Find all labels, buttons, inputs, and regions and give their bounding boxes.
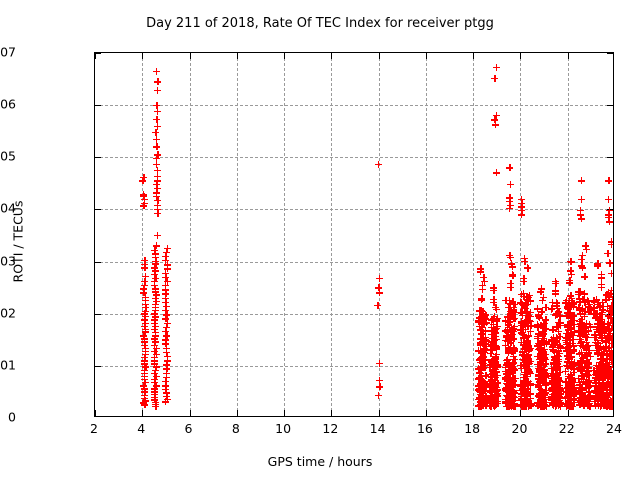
data-point (599, 386, 606, 393)
data-point (502, 386, 509, 393)
data-point (580, 322, 587, 329)
data-point (553, 337, 560, 344)
data-point (510, 315, 517, 322)
data-point (503, 384, 510, 391)
data-point (490, 338, 497, 345)
data-point (490, 284, 497, 291)
data-point (552, 401, 559, 408)
data-point (569, 376, 576, 383)
data-point (606, 352, 613, 359)
data-point (477, 348, 484, 355)
data-point (610, 367, 614, 374)
y-tick-mark (607, 262, 613, 263)
data-point (542, 402, 549, 409)
data-point (509, 391, 516, 398)
data-point (507, 382, 514, 389)
data-point (606, 351, 613, 358)
data-point (479, 319, 486, 326)
data-point (476, 382, 483, 389)
data-point (494, 386, 501, 393)
data-point (487, 396, 494, 403)
data-point (577, 320, 584, 327)
data-point (478, 383, 485, 390)
gridline-horizontal (95, 209, 613, 210)
data-point (596, 316, 603, 323)
data-point (152, 338, 159, 345)
data-point (538, 403, 545, 410)
data-point (576, 382, 583, 389)
data-point (376, 383, 383, 390)
data-point (606, 400, 613, 407)
data-point (521, 371, 528, 378)
data-point (606, 403, 613, 410)
data-point (611, 395, 614, 402)
data-point (151, 316, 158, 323)
data-point (152, 285, 159, 292)
data-point (506, 388, 513, 395)
data-point (582, 242, 589, 249)
chart-root: Day 211 of 2018, Rate Of TEC Index for r… (0, 0, 640, 480)
data-point (540, 330, 547, 337)
chart-title: Day 211 of 2018, Rate Of TEC Index for r… (0, 16, 640, 31)
data-point (607, 350, 614, 357)
data-point (575, 304, 582, 311)
data-point (565, 398, 572, 405)
data-point (549, 400, 556, 407)
data-point (476, 318, 483, 325)
data-point (555, 388, 562, 395)
x-tick-mark (379, 410, 380, 416)
data-point (607, 315, 614, 322)
data-point (553, 323, 560, 330)
data-point (541, 371, 548, 378)
data-point (597, 302, 604, 309)
data-point (508, 383, 515, 390)
data-point (482, 402, 489, 409)
data-point (523, 392, 530, 399)
data-point (586, 395, 593, 402)
data-point (566, 354, 573, 361)
data-point (585, 389, 592, 396)
data-point (578, 372, 585, 379)
data-point (610, 304, 614, 311)
data-point (598, 284, 605, 291)
data-point (506, 402, 513, 409)
data-point (503, 388, 510, 395)
data-point (489, 338, 496, 345)
data-point (592, 374, 599, 381)
data-point (153, 298, 160, 305)
data-point (554, 371, 561, 378)
data-point (586, 403, 593, 410)
data-point (486, 387, 493, 394)
data-point (506, 205, 513, 212)
data-point (152, 295, 159, 302)
data-point (527, 391, 534, 398)
data-point (576, 401, 583, 408)
data-point (549, 396, 556, 403)
data-point (611, 403, 614, 410)
data-point (509, 367, 516, 374)
data-point (535, 346, 542, 353)
y-tick-label: 0.01 (0, 357, 16, 372)
data-point (569, 317, 576, 324)
data-point (596, 370, 603, 377)
data-point (162, 295, 169, 302)
data-point (505, 304, 512, 311)
data-point (539, 324, 546, 331)
data-point (591, 387, 598, 394)
data-point (597, 382, 604, 389)
x-tick-label: 6 (185, 421, 193, 436)
data-point (482, 315, 489, 322)
data-point (582, 379, 589, 386)
data-point (539, 397, 546, 404)
data-point (609, 378, 614, 385)
data-point (492, 304, 499, 311)
data-point (491, 389, 498, 396)
data-point (509, 380, 516, 387)
data-point (598, 316, 605, 323)
x-tick-mark (284, 410, 285, 416)
x-tick-label: 20 (512, 421, 528, 436)
data-point (609, 390, 614, 397)
data-point (583, 246, 590, 253)
data-point (556, 393, 563, 400)
data-point (540, 368, 547, 375)
data-point (491, 369, 498, 376)
data-point (553, 334, 560, 341)
data-point (479, 384, 486, 391)
data-point (577, 394, 584, 401)
data-point (522, 343, 529, 350)
data-point (526, 401, 533, 408)
data-point (475, 402, 482, 409)
data-point (605, 332, 612, 339)
data-point (582, 344, 589, 351)
data-point (478, 354, 485, 361)
data-point (593, 347, 600, 354)
data-point (523, 355, 530, 362)
data-point (476, 395, 483, 402)
data-point (594, 349, 601, 356)
data-point (152, 267, 159, 274)
data-point (568, 372, 575, 379)
data-point (581, 299, 588, 306)
data-point (540, 394, 547, 401)
data-point (581, 273, 588, 280)
data-point (599, 389, 606, 396)
data-point (552, 339, 559, 346)
data-point (479, 331, 486, 338)
data-point (603, 292, 610, 299)
data-point (555, 392, 562, 399)
data-point (594, 386, 601, 393)
data-point (555, 358, 562, 365)
data-point (549, 346, 556, 353)
data-point (569, 332, 576, 339)
data-point (487, 381, 494, 388)
data-point (489, 347, 496, 354)
data-point (598, 274, 605, 281)
data-point (494, 361, 501, 368)
data-point (152, 254, 159, 261)
data-point (163, 303, 170, 310)
data-point (163, 249, 170, 256)
data-point (503, 357, 510, 364)
data-point (479, 396, 486, 403)
data-point (577, 333, 584, 340)
data-point (490, 381, 497, 388)
x-tick-mark (520, 410, 521, 416)
data-point (581, 290, 588, 297)
data-point (603, 399, 610, 406)
data-point (480, 393, 487, 400)
data-point (153, 345, 160, 352)
data-point (586, 382, 593, 389)
data-point (522, 389, 529, 396)
data-point (557, 343, 564, 350)
data-point (575, 397, 582, 404)
data-point (580, 378, 587, 385)
data-point (518, 383, 525, 390)
data-point (600, 374, 607, 381)
data-point (610, 347, 615, 354)
data-point (580, 354, 587, 361)
data-point (541, 401, 548, 408)
data-point (538, 347, 545, 354)
data-point (549, 343, 556, 350)
data-point (605, 335, 612, 342)
data-point (493, 64, 500, 71)
data-point (482, 399, 489, 406)
data-point (503, 370, 510, 377)
data-point (579, 252, 586, 259)
data-point (521, 345, 528, 352)
data-point (492, 330, 499, 337)
data-point (477, 336, 484, 343)
data-point (477, 401, 484, 408)
data-point (597, 355, 604, 362)
data-point (594, 396, 601, 403)
data-point (552, 290, 559, 297)
data-point (509, 375, 516, 382)
data-point (525, 357, 532, 364)
data-point (599, 390, 606, 397)
data-point (577, 357, 584, 364)
data-point (578, 316, 585, 323)
data-point (508, 392, 515, 399)
data-point (489, 342, 496, 349)
data-point (482, 315, 489, 322)
data-point (563, 339, 570, 346)
data-point (571, 379, 578, 386)
data-point (605, 177, 612, 184)
data-point (608, 287, 614, 294)
data-point (476, 394, 483, 401)
data-point (581, 273, 588, 280)
data-point (570, 369, 577, 376)
data-point (534, 322, 541, 329)
data-point (488, 376, 495, 383)
data-point (599, 383, 606, 390)
data-point (602, 327, 609, 334)
data-point (552, 287, 559, 294)
data-point (151, 376, 158, 383)
data-point (576, 350, 583, 357)
data-point (509, 263, 516, 270)
data-point (575, 291, 582, 298)
data-point (570, 392, 577, 399)
data-point (597, 384, 604, 391)
data-point (591, 395, 598, 402)
data-point (523, 402, 530, 409)
data-point (556, 369, 563, 376)
data-point (541, 379, 548, 386)
data-point (523, 337, 530, 344)
data-point (542, 372, 549, 379)
data-point (541, 351, 548, 358)
data-point (600, 303, 607, 310)
data-point (504, 333, 511, 340)
data-point (576, 323, 583, 330)
data-point (523, 396, 530, 403)
y-tick-mark (95, 366, 101, 367)
data-point (608, 270, 614, 277)
data-point (151, 264, 158, 271)
data-point (482, 311, 489, 318)
data-point (548, 306, 555, 313)
data-point (611, 358, 614, 365)
data-point (600, 402, 607, 409)
data-point (490, 368, 497, 375)
data-point (536, 379, 543, 386)
data-point (592, 379, 599, 386)
data-point (585, 379, 592, 386)
data-point (527, 328, 534, 335)
data-point (490, 402, 497, 409)
data-point (140, 332, 147, 339)
data-point (556, 384, 563, 391)
data-point (536, 367, 543, 374)
data-point (599, 379, 606, 386)
data-point (520, 377, 527, 384)
data-point (597, 373, 604, 380)
data-point (552, 402, 559, 409)
data-point (506, 364, 513, 371)
data-point (487, 361, 494, 368)
data-point (585, 342, 592, 349)
data-point (162, 257, 169, 264)
data-point (610, 378, 614, 385)
y-tick-mark (95, 314, 101, 315)
data-point (512, 381, 519, 388)
data-point (493, 325, 500, 332)
data-point (487, 346, 494, 353)
data-point (606, 400, 613, 407)
data-point (507, 181, 514, 188)
data-point (596, 332, 603, 339)
data-point (518, 322, 525, 329)
data-point (539, 347, 546, 354)
data-point (557, 399, 564, 406)
data-point (493, 316, 500, 323)
data-point (511, 402, 518, 409)
data-point (550, 347, 557, 354)
data-point (584, 400, 591, 407)
data-point (551, 353, 558, 360)
data-point (577, 333, 584, 340)
data-point (152, 332, 159, 339)
data-point (553, 397, 560, 404)
data-point (524, 265, 531, 272)
data-point (557, 344, 564, 351)
data-point (535, 372, 542, 379)
data-point (556, 385, 563, 392)
data-point (536, 401, 543, 408)
x-tick-mark (95, 53, 96, 59)
data-point (505, 402, 512, 409)
data-point (522, 344, 529, 351)
data-point (475, 347, 482, 354)
data-point (486, 402, 493, 409)
data-point (477, 370, 484, 377)
data-point (597, 320, 604, 327)
data-point (568, 315, 575, 322)
data-point (605, 392, 612, 399)
data-point (583, 384, 590, 391)
data-point (548, 305, 555, 312)
data-point (606, 400, 613, 407)
data-point (478, 359, 485, 366)
data-point (163, 345, 170, 352)
data-point (596, 394, 603, 401)
data-point (534, 324, 541, 331)
data-point (541, 320, 548, 327)
data-point (489, 371, 496, 378)
data-point (577, 340, 584, 347)
data-point (571, 389, 578, 396)
data-point (556, 401, 563, 408)
data-point (163, 361, 170, 368)
data-point (535, 330, 542, 337)
data-point (487, 402, 494, 409)
data-point (527, 309, 534, 316)
data-point (524, 397, 531, 404)
data-point (538, 285, 545, 292)
data-point (522, 305, 529, 312)
data-point (489, 366, 496, 373)
data-point (592, 382, 599, 389)
data-point (521, 398, 528, 405)
data-point (502, 337, 509, 344)
data-point (505, 403, 512, 410)
data-point (593, 377, 600, 384)
data-point (162, 378, 169, 385)
data-point (523, 294, 530, 301)
data-point (606, 218, 613, 225)
x-tick-mark (95, 410, 96, 416)
data-point (162, 328, 169, 335)
data-point (539, 392, 546, 399)
data-point (596, 328, 603, 335)
data-point (579, 305, 586, 312)
data-point (582, 399, 589, 406)
data-point (604, 250, 611, 257)
data-point (506, 370, 513, 377)
data-point (521, 381, 528, 388)
data-point (563, 389, 570, 396)
